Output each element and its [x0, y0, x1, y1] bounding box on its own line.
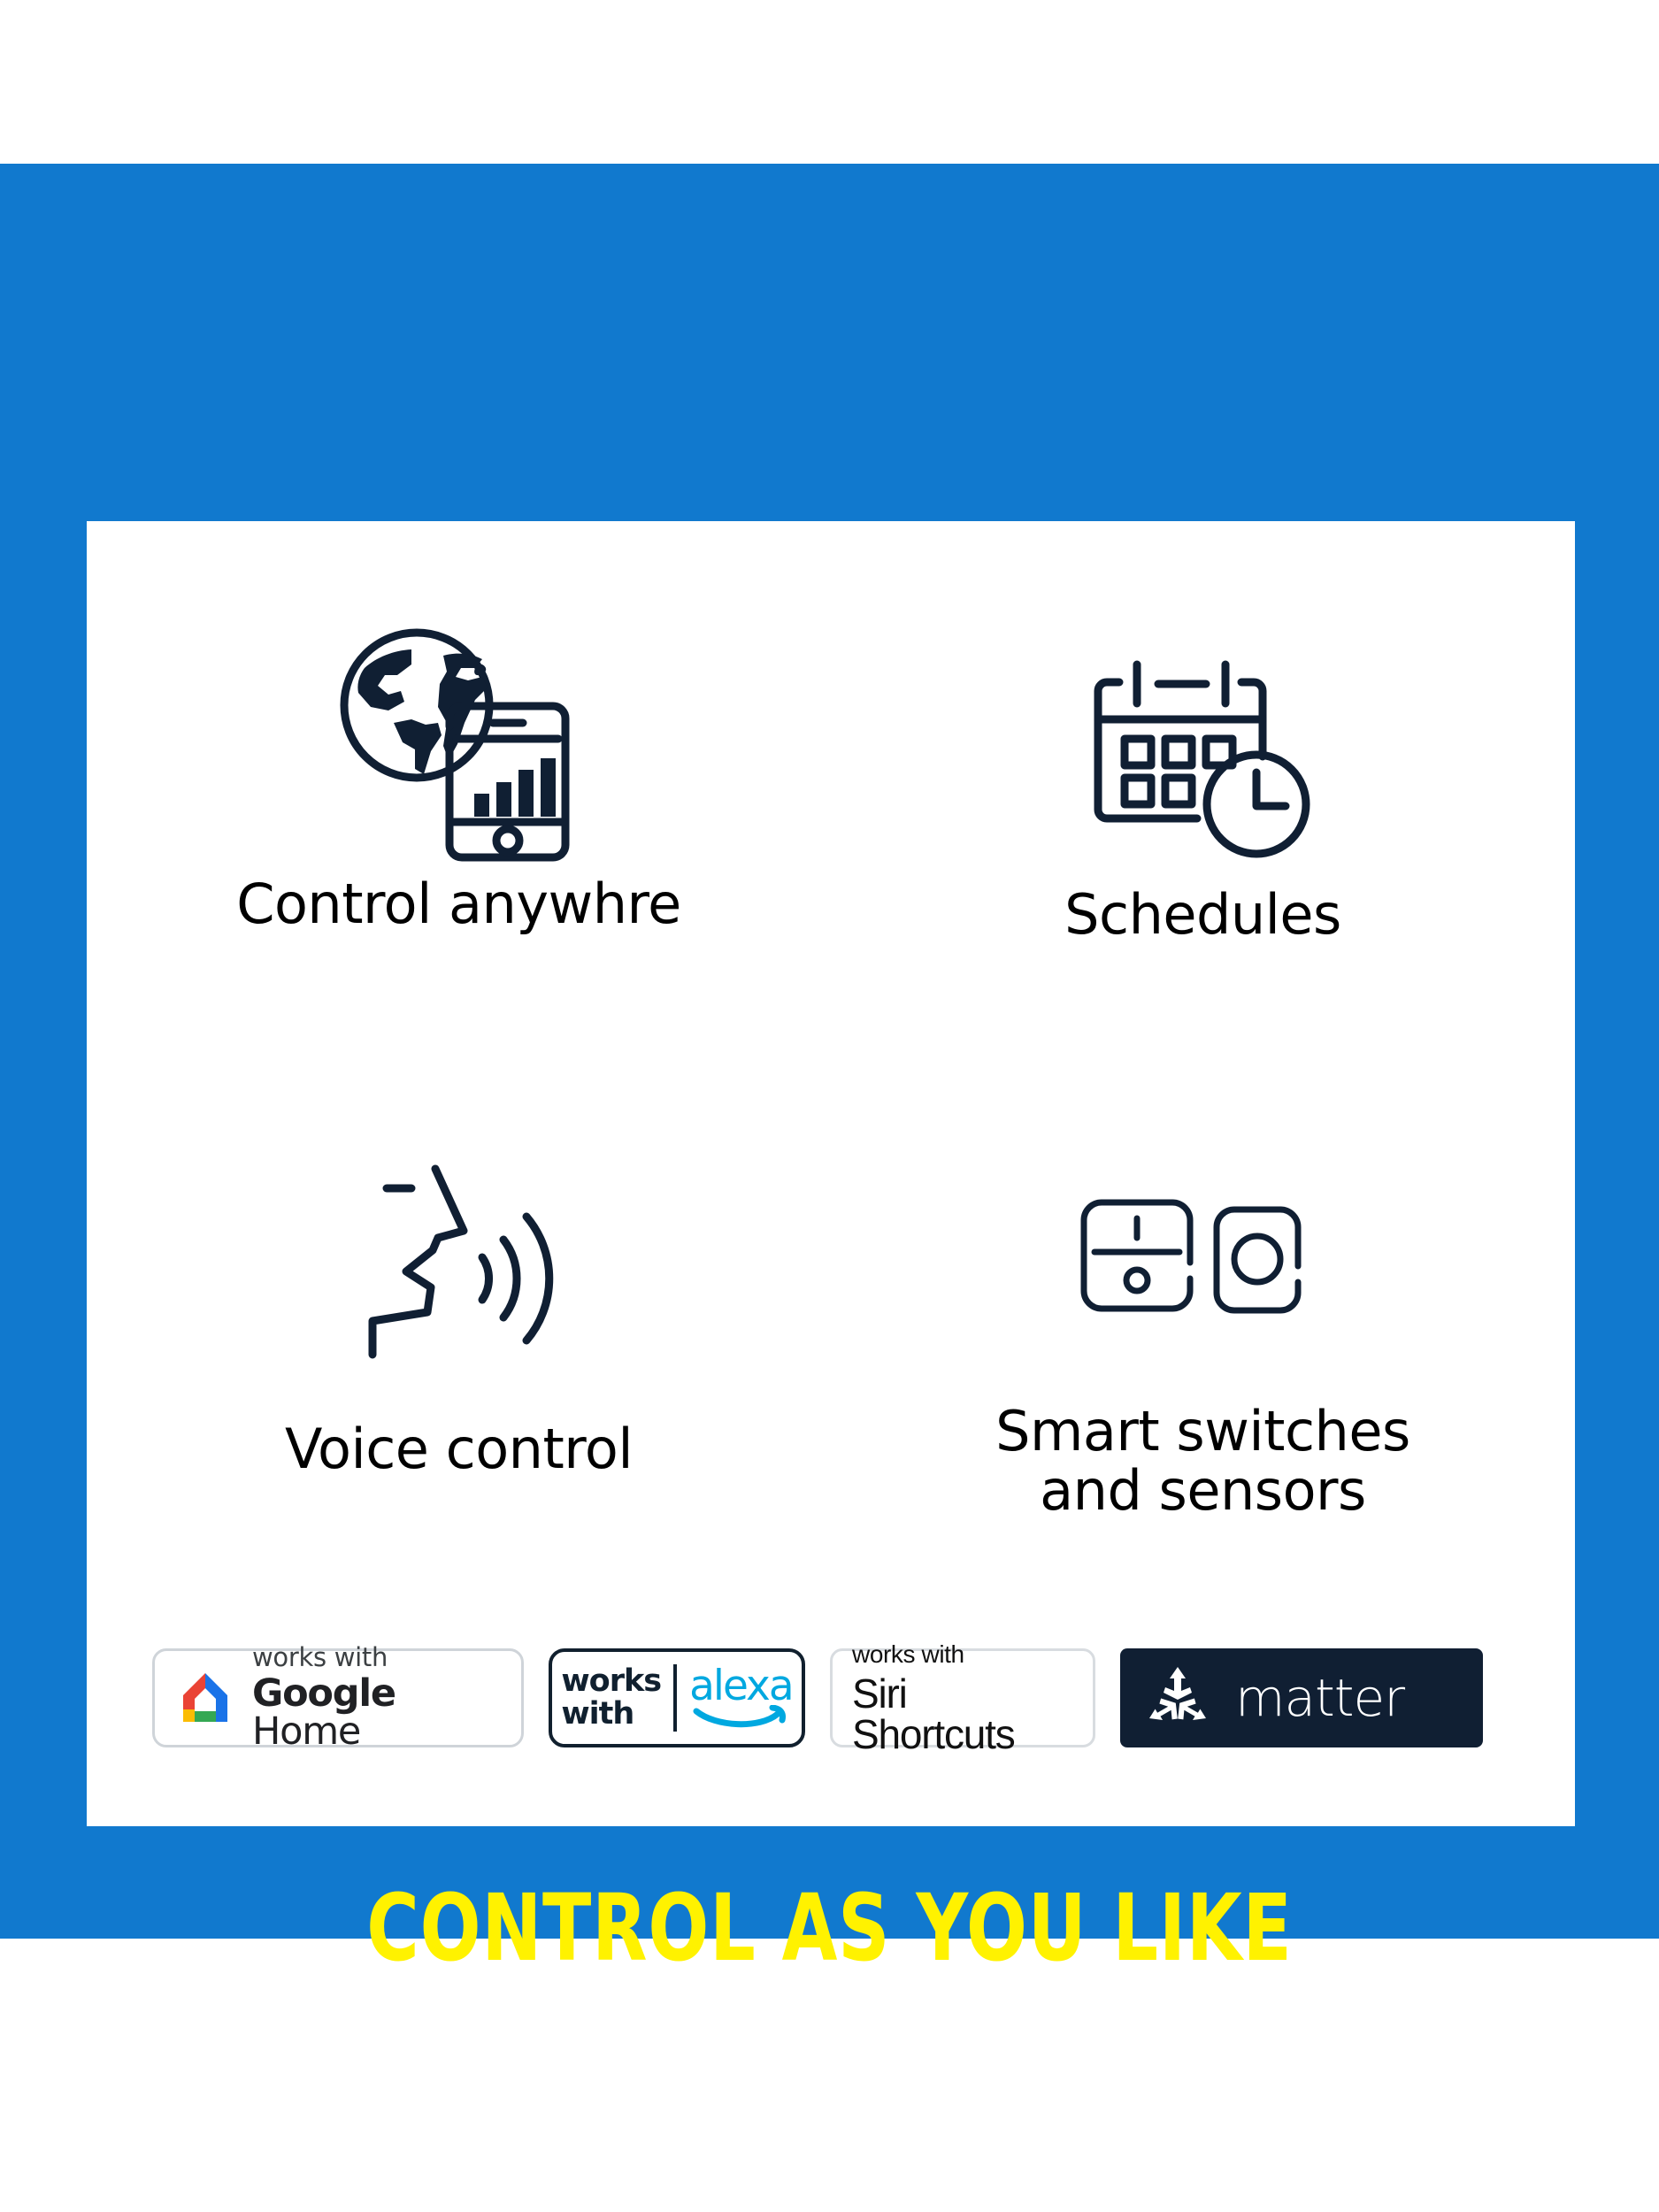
feature-item-voice-control: Voice control: [87, 1121, 831, 1643]
amazon-smile-icon: [693, 1705, 788, 1728]
feature-item-schedules: Schedules: [831, 599, 1575, 1121]
alexa-works-line2: with: [561, 1698, 661, 1731]
badge-matter[interactable]: matter: [1120, 1648, 1483, 1747]
alexa-brand-label: alexa: [689, 1668, 793, 1705]
feature-label: Control anywhre: [236, 875, 681, 934]
badge-works-with-siri-shortcuts[interactable]: works with Siri Shortcuts: [830, 1648, 1095, 1747]
google-home-brand-label: Google Home: [252, 1675, 505, 1751]
matter-triskelion-icon: [1143, 1663, 1212, 1732]
partner-badge-row: works with Google Home works with alexa: [152, 1632, 1515, 1764]
feature-label: Voice control: [285, 1420, 633, 1479]
siri-works-with-label: works with: [852, 1642, 964, 1667]
speaking-head-icon: [344, 1144, 574, 1401]
feature-label: Smart switches and sensors: [995, 1402, 1410, 1521]
globe-phone-icon: [326, 622, 592, 868]
badge-works-with-alexa[interactable]: works with alexa: [549, 1648, 805, 1747]
alexa-works-with-text: works with: [561, 1665, 661, 1731]
google-home-works-with-label: works with: [252, 1645, 505, 1671]
feature-label: Schedules: [1064, 886, 1341, 945]
poster-blue-background: Control anywhre: [0, 164, 1659, 1939]
siri-brand-label: Siri Shortcuts: [852, 1673, 1073, 1755]
calendar-clock-icon: [1084, 622, 1323, 879]
alexa-logo: alexa: [689, 1668, 793, 1728]
google-home-brand-light: Home: [252, 1709, 360, 1754]
feature-card: Control anywhre: [87, 521, 1575, 1826]
poster-headline: CONTROL AS YOU LIKE: [182, 1882, 1477, 1974]
switch-sensor-icon: [1075, 1144, 1332, 1376]
google-home-text: works with Google Home: [252, 1645, 505, 1751]
matter-brand-label: matter: [1235, 1672, 1404, 1724]
badge-works-with-google-home[interactable]: works with Google Home: [152, 1648, 524, 1747]
google-home-house-icon: [173, 1665, 238, 1731]
feature-item-smart-switches: Smart switches and sensors: [831, 1121, 1575, 1643]
alexa-works-line1: works: [561, 1665, 661, 1698]
feature-item-control-anywhere: Control anywhre: [87, 599, 831, 1121]
alexa-badge-divider: [673, 1664, 677, 1732]
feature-grid: Control anywhre: [87, 599, 1575, 1643]
